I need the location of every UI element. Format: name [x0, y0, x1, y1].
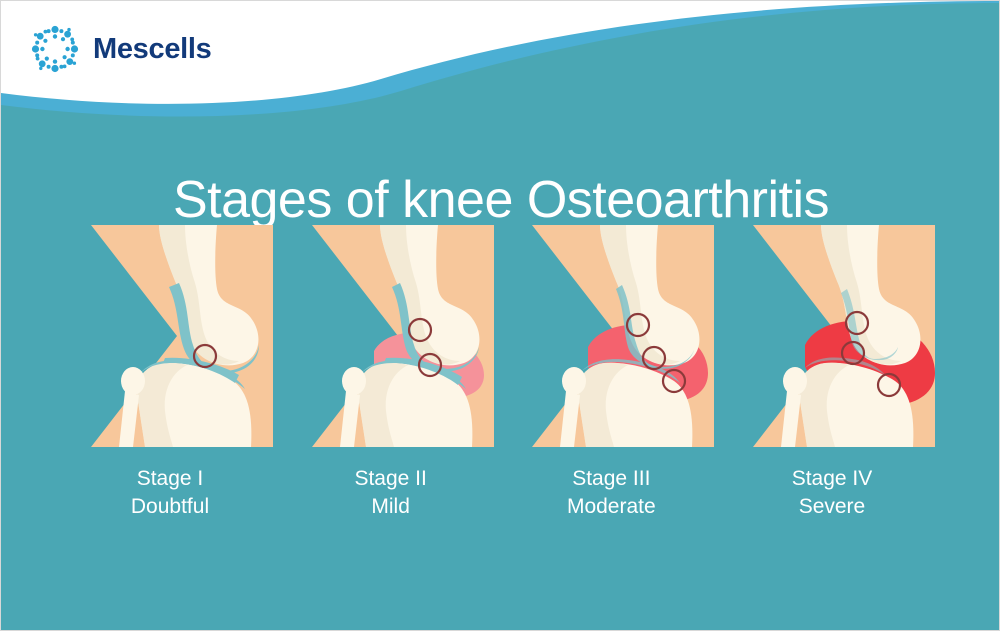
stage-card-2[interactable]: Stage II Mild [288, 225, 494, 520]
stage-description-4: Severe [729, 493, 935, 521]
stage-label-4: Stage IV [729, 465, 935, 493]
stage-label-1: Stage I [67, 465, 273, 493]
stage-caption-1: Stage I Doubtful [67, 465, 273, 520]
stage-caption-3: Stage III Moderate [508, 465, 714, 520]
knee-illustration-stage-2 [288, 225, 494, 447]
brand-logo: Mescells [29, 23, 212, 75]
cluster-of-dots-circle-icon [29, 23, 81, 75]
infographic-poster: Mescells Stages of knee Osteoarthritis [0, 0, 1000, 631]
stage-description-2: Mild [288, 493, 494, 521]
knee-illustration-stage-1 [67, 225, 273, 447]
stage-description-1: Doubtful [67, 493, 273, 521]
page-title: Stages of knee Osteoarthritis [1, 170, 1000, 230]
stage-description-3: Moderate [508, 493, 714, 521]
stage-card-1[interactable]: Stage I Doubtful [67, 225, 273, 520]
stage-caption-4: Stage IV Severe [729, 465, 935, 520]
stage-caption-2: Stage II Mild [288, 465, 494, 520]
stage-card-3[interactable]: Stage III Moderate [508, 225, 714, 520]
stage-label-3: Stage III [508, 465, 714, 493]
knee-illustration-stage-4 [729, 225, 935, 447]
knee-illustration-stage-3 [508, 225, 714, 447]
stage-card-4[interactable]: Stage IV Severe [729, 225, 935, 520]
stage-list: Stage I Doubtful [67, 225, 935, 525]
brand-name: Mescells [93, 33, 212, 66]
stage-label-2: Stage II [288, 465, 494, 493]
